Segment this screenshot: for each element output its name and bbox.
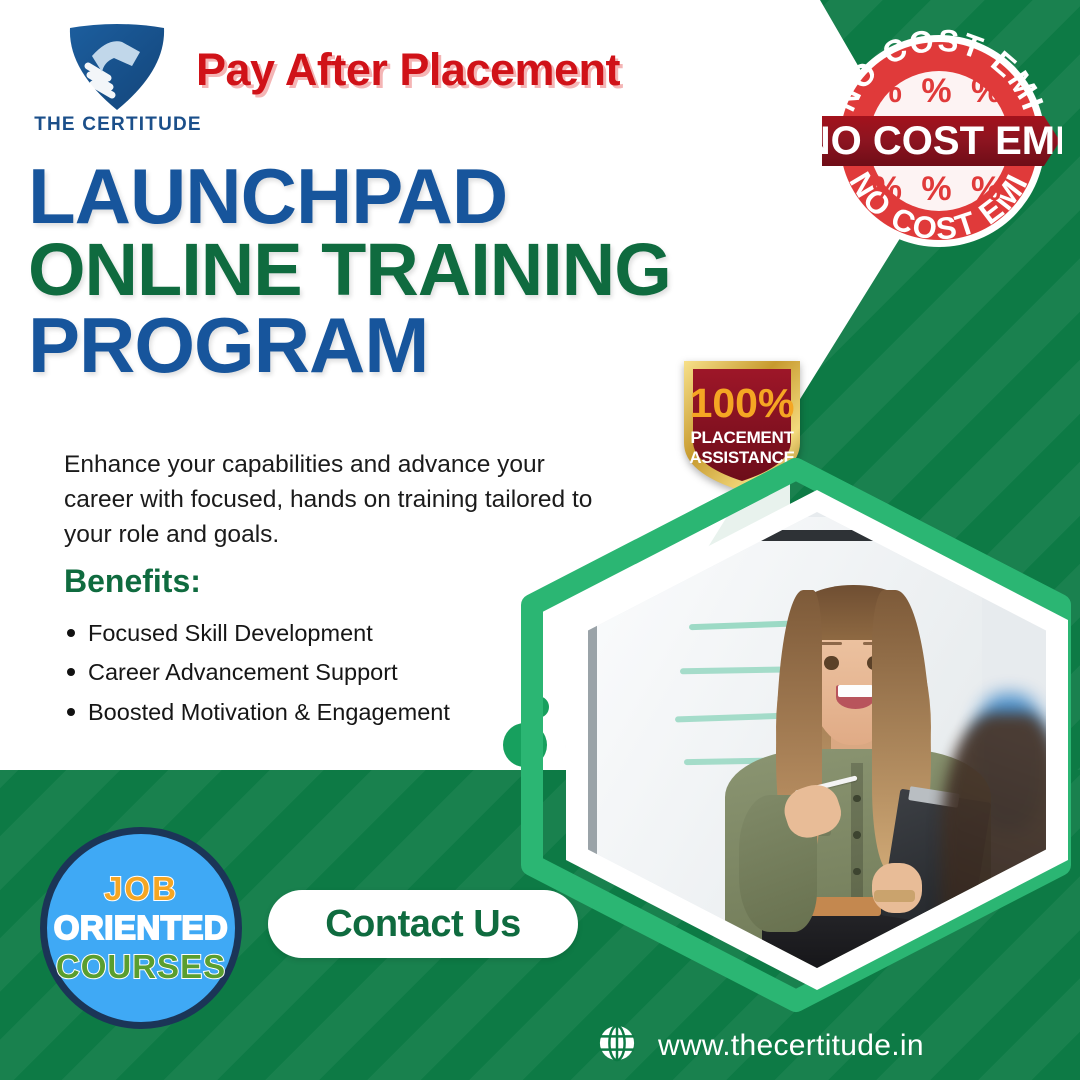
poster-canvas: THE CERTITUDE Pay After Placement LAUNCH…	[0, 0, 1080, 1080]
headline-line-1: LAUNCHPAD	[28, 158, 828, 234]
emi-banner-text: NO COST EMI	[816, 119, 1062, 163]
footer-website[interactable]: www.thecertitude.in	[598, 1024, 924, 1067]
emi-percent-bottom: % % %	[872, 170, 1007, 208]
instructor-photo-hexagon-overlay	[566, 490, 1068, 990]
contact-us-button[interactable]: Contact Us	[268, 890, 578, 958]
contact-us-label: Contact Us	[325, 903, 521, 946]
footer-url-text: www.thecertitude.in	[658, 1029, 924, 1063]
placement-percent-value: 100%	[690, 380, 795, 426]
globe-icon	[598, 1024, 636, 1067]
shield-handshake-icon	[62, 22, 172, 112]
placement-line-1: PLACEMENT	[690, 428, 794, 447]
job-badge-line-3: COURSES	[56, 948, 226, 986]
tagline-pay-after-placement: Pay After Placement	[196, 44, 620, 96]
job-badge-line-2: ORIENTED	[54, 909, 229, 947]
job-oriented-courses-badge: JOB ORIENTED COURSES	[40, 827, 242, 1029]
no-cost-emi-badge: NO COST EMI NO COST EMI % % % % % % NO C…	[816, 18, 1062, 250]
emi-percent-top: % % %	[872, 72, 1007, 110]
job-badge-line-1: JOB	[104, 870, 178, 908]
headline-line-2: ONLINE TRAINING	[28, 234, 828, 307]
benefits-heading: Benefits:	[64, 563, 201, 600]
brand-logo[interactable]: THE CERTITUDE	[28, 22, 208, 142]
whiteboard-frame	[588, 526, 597, 946]
brand-logo-text: THE CERTITUDE	[28, 114, 208, 136]
headline-block: LAUNCHPAD ONLINE TRAINING PROGRAM	[28, 158, 828, 383]
